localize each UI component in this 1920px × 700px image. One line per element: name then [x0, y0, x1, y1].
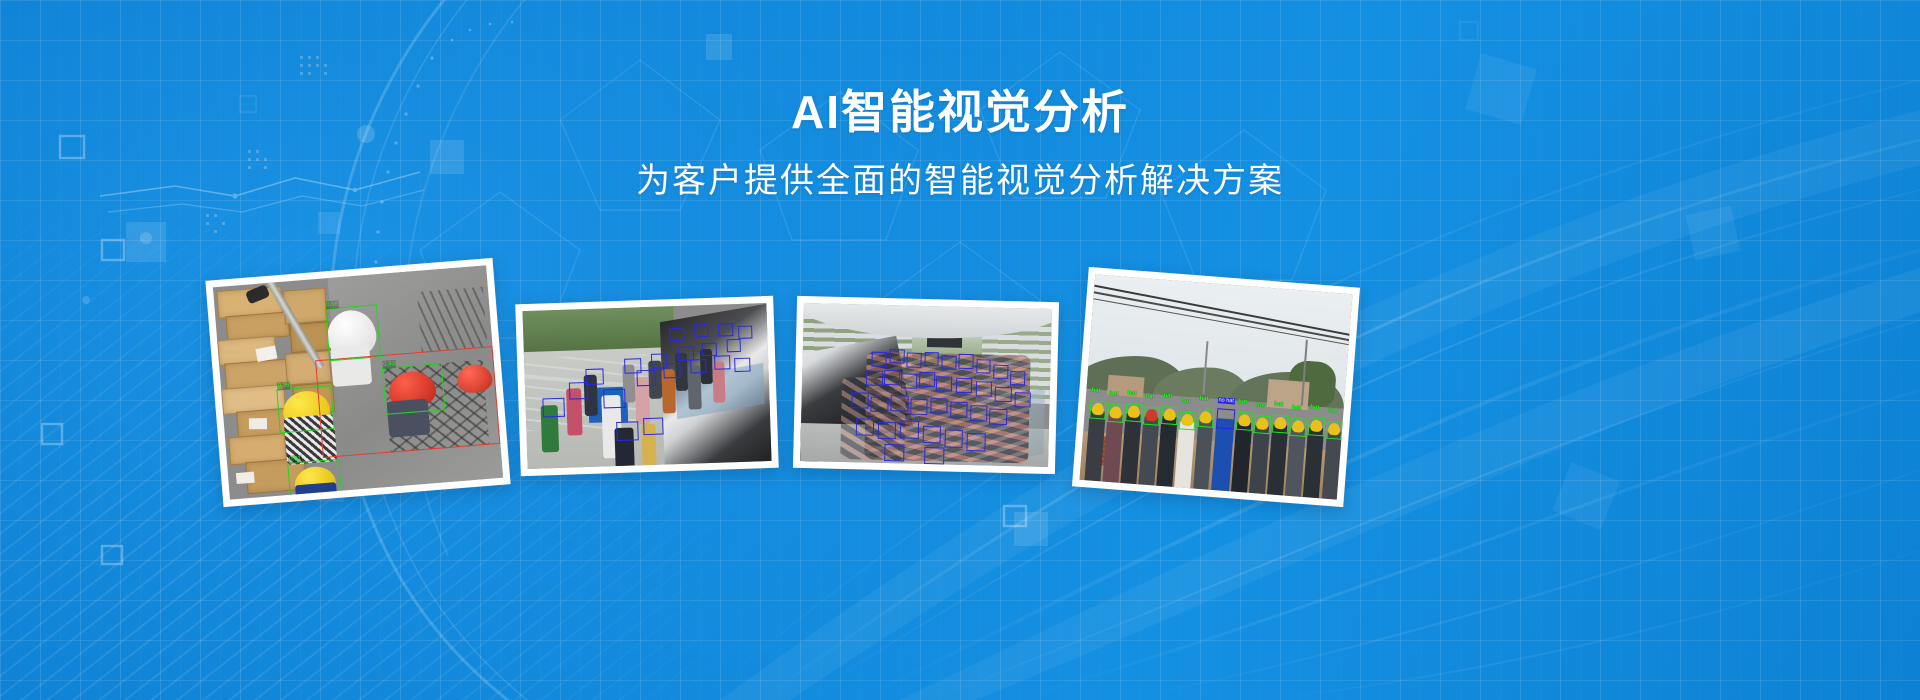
head-box	[936, 376, 952, 391]
head-box	[918, 372, 934, 387]
ai-vision-hero-banner: AI智能视觉分析 为客户提供全面的智能视觉分析解决方案	[0, 0, 1920, 700]
hardhat-box	[1236, 411, 1253, 431]
hardhat-label: hat	[1163, 393, 1172, 400]
head-box	[990, 409, 1008, 425]
detection-box-helmet-yellow-1: 0.96	[276, 385, 334, 434]
hardhat-label: hat	[1256, 402, 1265, 409]
page-title: AI智能视觉分析	[0, 86, 1920, 139]
head-box	[959, 354, 974, 369]
head-box	[975, 381, 991, 396]
hardhat-label: hat	[1091, 388, 1100, 395]
head-box	[944, 430, 963, 448]
head-box	[941, 355, 956, 370]
head-box	[542, 398, 565, 418]
head-box	[950, 401, 968, 417]
head-box	[851, 393, 869, 409]
no-hardhat-label: no hat	[1217, 397, 1235, 404]
head-box	[734, 357, 750, 372]
detection-confidence-label: 0.93	[382, 360, 396, 369]
hardhat-box	[1125, 403, 1142, 423]
detection-box-helmet-white: 0.98	[325, 304, 381, 361]
detection-box-helmet-red: 0.93	[382, 363, 446, 415]
head-box	[924, 352, 939, 367]
head-box	[616, 421, 639, 441]
head-box	[866, 371, 882, 386]
no-hardhat-box	[1215, 408, 1235, 430]
hardhat-label: hat	[1292, 405, 1301, 412]
head-box	[967, 433, 986, 451]
hardhat-box	[1197, 408, 1214, 428]
head-box	[872, 352, 887, 367]
detection-confidence-label: 0.98	[325, 300, 339, 309]
head-box	[995, 387, 1011, 402]
head-box	[690, 359, 706, 374]
head-box	[643, 417, 663, 435]
hardhat-box	[1272, 414, 1289, 434]
head-box	[718, 323, 733, 336]
outdoor-hardhat-detection-image: hat hat hat hat hat hat hat no hat hat	[1079, 274, 1352, 499]
detection-confidence-label: 0.96	[276, 381, 290, 390]
hardhat-label: hat	[1109, 391, 1118, 398]
pedestrian-crowd-detection-image	[522, 303, 771, 469]
hardhat-box	[1179, 411, 1196, 431]
hardhat-box	[1089, 400, 1106, 420]
hardhat-box	[1143, 406, 1160, 426]
head-box	[924, 447, 944, 465]
head-box	[970, 405, 988, 421]
hardhat-label: hat	[1145, 394, 1154, 401]
gallery-photo-card-bridge[interactable]	[515, 296, 779, 476]
detection-confidence-label: 0.91	[288, 455, 302, 464]
head-box	[922, 426, 941, 444]
hardhat-label: hat	[1127, 391, 1136, 398]
hardhat-label: hat	[1199, 396, 1208, 403]
head-box	[910, 399, 928, 415]
gallery-photo-card-warehouse[interactable]: 0.98 0.96 0.93 0.91	[205, 258, 510, 507]
hero-text-block: AI智能视觉分析 为客户提供全面的智能视觉分析解决方案	[0, 86, 1920, 202]
hardhat-box	[1326, 420, 1343, 440]
head-box	[726, 339, 741, 353]
head-box	[585, 368, 604, 384]
head-box	[956, 378, 972, 393]
hardhat-box	[1254, 415, 1271, 435]
head-box	[871, 396, 889, 412]
head-box	[714, 355, 730, 370]
head-box	[891, 395, 909, 411]
head-box	[855, 418, 874, 436]
gallery-photo-card-station[interactable]	[793, 296, 1059, 474]
page-subtitle: 为客户提供全面的智能视觉分析解决方案	[0, 161, 1920, 202]
head-box	[907, 353, 922, 368]
hardhat-box	[1107, 404, 1124, 424]
head-box	[993, 365, 1008, 380]
head-box	[738, 326, 753, 339]
head-box	[930, 398, 948, 414]
head-box	[663, 363, 681, 379]
hardhat-label: hat	[1274, 402, 1283, 409]
head-box	[694, 324, 709, 337]
warehouse-helmet-detection-image: 0.98 0.96 0.93 0.91	[213, 265, 503, 499]
hardhat-label: hat	[1310, 405, 1319, 412]
hardhat-box	[1290, 418, 1307, 438]
head-box	[637, 370, 656, 386]
head-box	[1015, 392, 1031, 407]
hardhat-label: hat	[1181, 399, 1190, 406]
cable-clutter-upper	[417, 287, 487, 352]
detection-box-helmet-yellow-2: 0.91	[287, 459, 342, 500]
head-box	[901, 373, 917, 388]
head-box	[603, 388, 626, 408]
hardhat-box	[1161, 406, 1178, 426]
head-box	[889, 349, 904, 364]
hardhat-box	[1308, 417, 1325, 437]
hardhat-label: hat	[1238, 399, 1247, 406]
hardhat-label: hat	[1328, 408, 1337, 415]
head-box	[884, 370, 900, 385]
head-box	[878, 422, 897, 440]
head-box	[900, 421, 919, 439]
gallery-photo-card-outdoor-group[interactable]: hat hat hat hat hat hat hat no hat hat	[1072, 267, 1360, 507]
head-box	[669, 328, 684, 341]
station-crowd-detection-image	[800, 303, 1052, 467]
head-box	[884, 444, 904, 462]
head-box	[1010, 371, 1025, 386]
head-box	[976, 359, 991, 374]
